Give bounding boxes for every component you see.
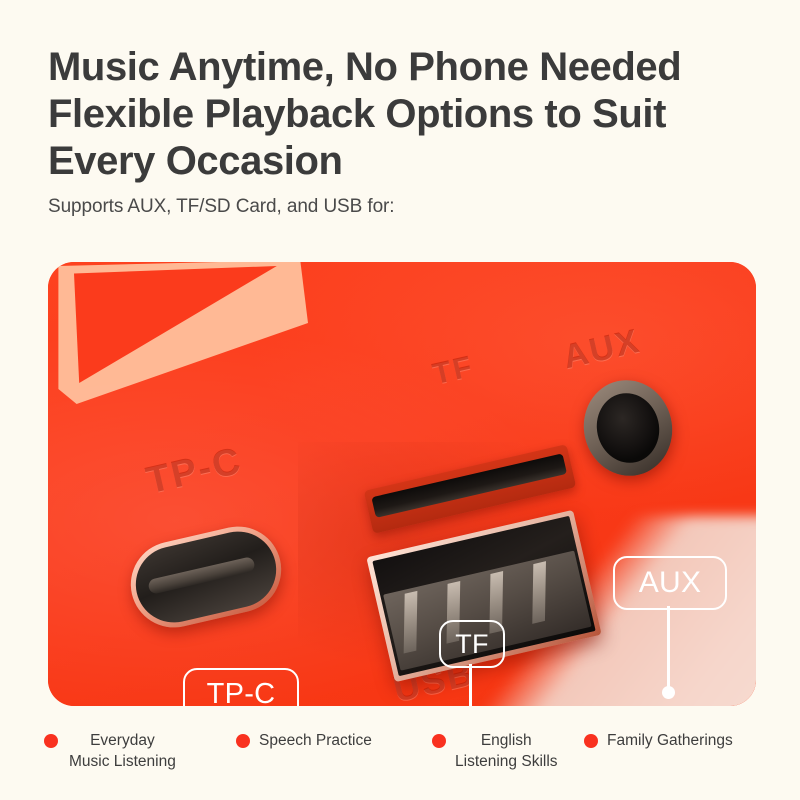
benefit-label: Family Gatherings xyxy=(607,730,733,751)
benefit-label: English Listening Skills xyxy=(455,730,558,772)
page-subtitle: Supports AUX, TF/SD Card, and USB for: xyxy=(48,195,768,219)
page-title: Music Anytime, No Phone Needed Flexible … xyxy=(48,44,768,185)
product-photo-panel: TP-C TF AUX USB TP-C TF AUX xyxy=(48,262,756,706)
bullet-dot-icon xyxy=(236,734,250,748)
callout-leader-aux xyxy=(667,606,670,692)
callout-label-aux: AUX xyxy=(613,556,727,610)
bullet-dot-icon xyxy=(584,734,598,748)
callout-label-tpc: TP-C xyxy=(183,668,299,706)
benefit-label: Speech Practice xyxy=(259,730,372,751)
benefits-row: Everyday Music Listening Speech Practice… xyxy=(44,730,764,772)
benefit-label: Everyday Music Listening xyxy=(69,730,176,772)
usb-pin xyxy=(404,591,418,654)
bullet-dot-icon xyxy=(432,734,446,748)
callout-dot-aux xyxy=(662,686,675,699)
benefit-item: Family Gatherings xyxy=(584,730,764,751)
bullet-dot-icon xyxy=(44,734,58,748)
usb-pin xyxy=(532,561,546,624)
callout-label-tf: TF xyxy=(439,620,505,668)
benefit-item: Everyday Music Listening xyxy=(44,730,236,772)
benefit-item: Speech Practice xyxy=(236,730,432,751)
callout-leader-tf xyxy=(469,664,472,706)
benefit-item: English Listening Skills xyxy=(432,730,584,772)
header: Music Anytime, No Phone Needed Flexible … xyxy=(48,44,768,219)
